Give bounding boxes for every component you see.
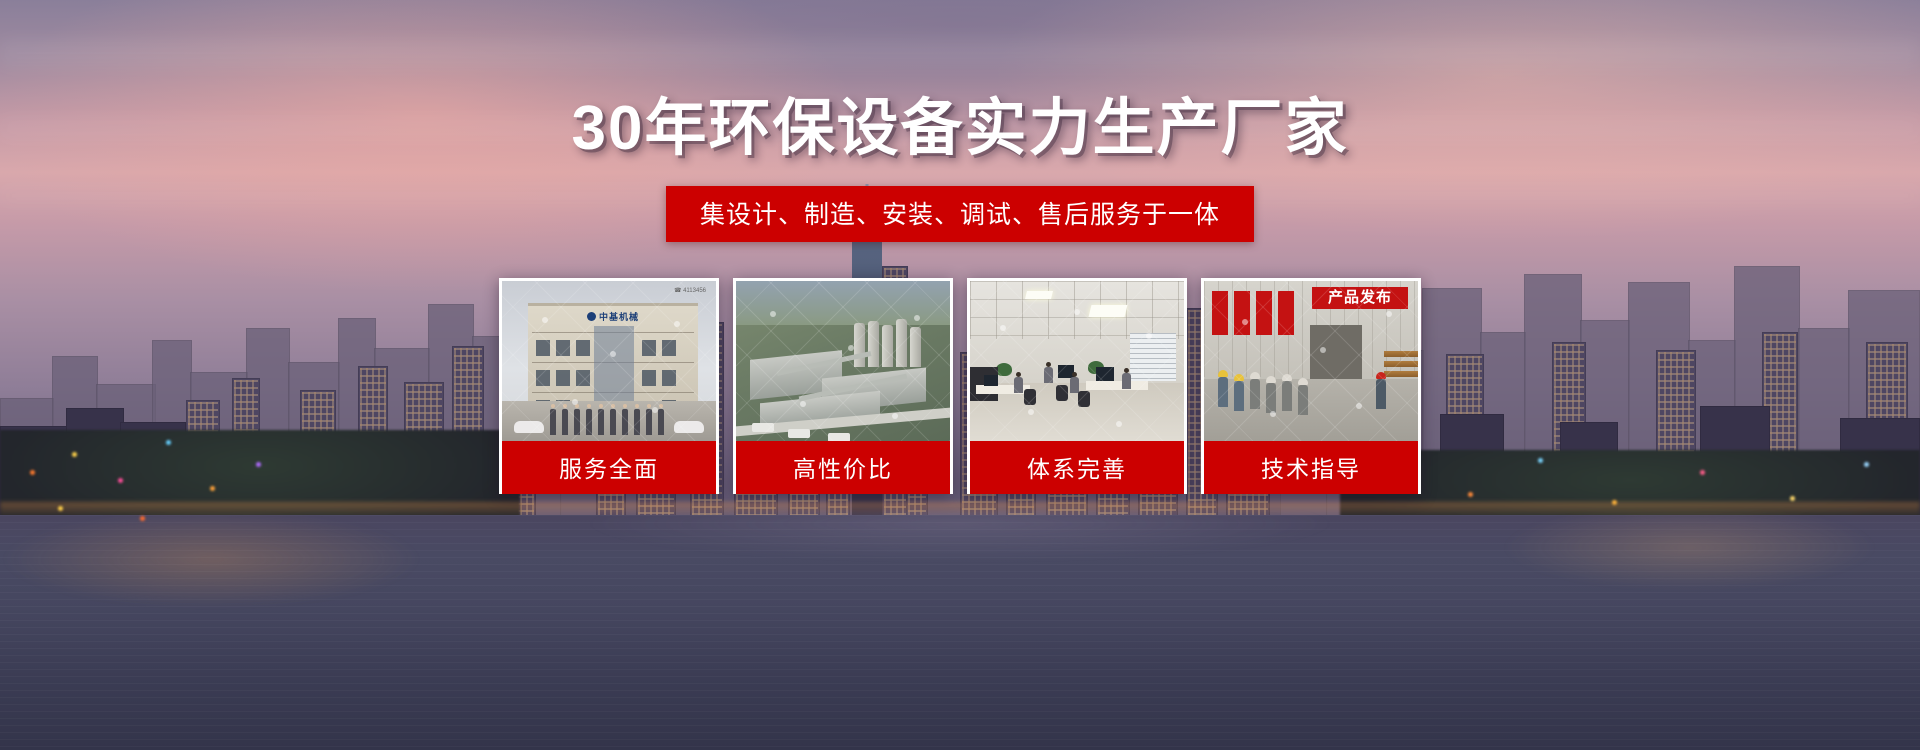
feature-card[interactable]: 体系完善 — [967, 278, 1187, 494]
feature-card-caption: 技术指导 — [1204, 441, 1418, 494]
aerial-factory-plant-photo — [736, 281, 950, 441]
feature-card-list: 中基机械 ☎ 4113456 — [499, 278, 1421, 494]
company-office-building-photo: 中基机械 ☎ 4113456 — [502, 281, 716, 441]
feature-card-caption: 服务全面 — [502, 441, 716, 494]
page-title: 30年环保设备实力生产厂家 — [572, 98, 1349, 160]
helmet-icon — [1266, 376, 1276, 383]
banner-content: 30年环保设备实力生产厂家 集设计、制造、安装、调试、售后服务于一体 — [0, 0, 1920, 750]
helmet-icon — [1376, 372, 1386, 379]
helmet-icon — [1298, 378, 1308, 385]
feature-card-caption: 体系完善 — [970, 441, 1184, 494]
company-logo-icon — [587, 312, 596, 321]
workshop-workers-photo: 产品发布 — [1204, 281, 1418, 441]
subtitle-badge: 集设计、制造、安装、调试、售后服务于一体 — [666, 186, 1254, 242]
feature-card[interactable]: 中基机械 ☎ 4113456 — [499, 278, 719, 494]
helmet-icon — [1218, 370, 1228, 377]
workshop-banner-label: 产品发布 — [1312, 287, 1408, 309]
feature-card-caption: 高性价比 — [736, 441, 950, 494]
office-interior-staff-photo — [970, 281, 1184, 441]
feature-card[interactable]: 高性价比 — [733, 278, 953, 494]
building-sign-label: 中基机械 — [587, 310, 639, 323]
helmet-icon — [1282, 374, 1292, 381]
helmet-icon — [1234, 374, 1244, 381]
feature-card[interactable]: 产品发布 — [1201, 278, 1421, 494]
hero-banner: 30年环保设备实力生产厂家 集设计、制造、安装、调试、售后服务于一体 — [0, 0, 1920, 750]
phone-label: ☎ 4113456 — [674, 287, 706, 294]
helmet-icon — [1250, 372, 1260, 379]
